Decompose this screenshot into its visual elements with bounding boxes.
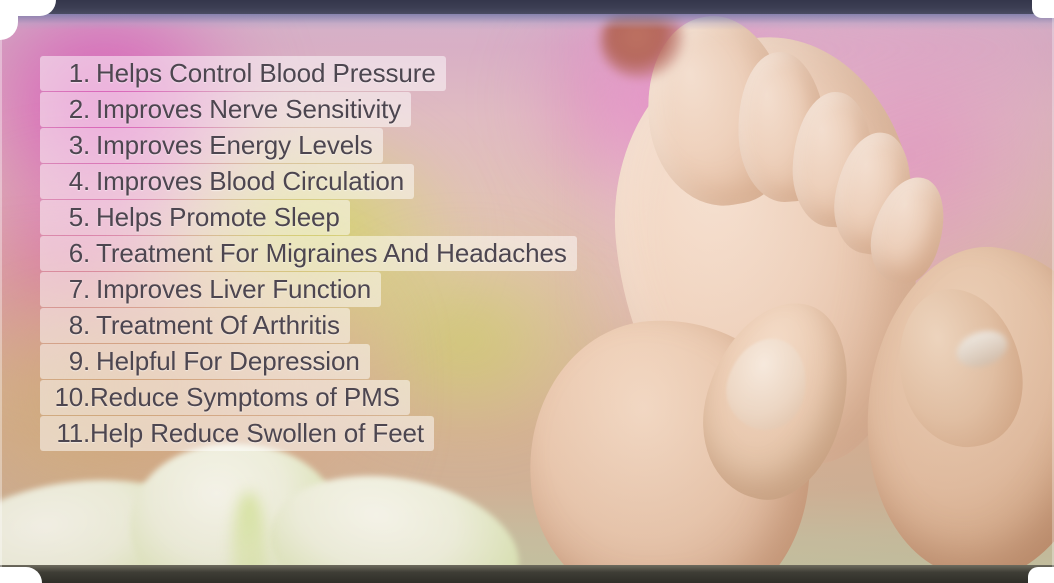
list-item-label: Improves Nerve Sensitivity [90, 92, 401, 127]
list-item: 3. Improves Energy Levels [40, 128, 383, 163]
slide-canvas: 1. Helps Control Blood Pressure 2. Impro… [0, 0, 1054, 583]
list-item: 6. Treatment For Migraines And Headaches [40, 236, 577, 271]
bottom-bar [0, 565, 1054, 583]
list-item-number: 1. [46, 56, 90, 91]
corner-top-right [1032, 0, 1054, 18]
list-item-number: 3. [46, 128, 90, 163]
list-item: 10. Reduce Symptoms of PMS [40, 380, 410, 415]
list-item-label: Help Reduce Swollen of Feet [90, 416, 424, 451]
list-item-label: Improves Energy Levels [90, 128, 373, 163]
list-item-number: 5. [46, 200, 90, 235]
benefits-list: 1. Helps Control Blood Pressure 2. Impro… [40, 52, 648, 458]
list-item: 1. Helps Control Blood Pressure [40, 56, 446, 91]
list-item: 2. Improves Nerve Sensitivity [40, 92, 411, 127]
list-item: 7. Improves Liver Function [40, 272, 381, 307]
list-item-label: Improves Blood Circulation [90, 164, 404, 199]
list-item-number: 2. [46, 92, 90, 127]
top-bar-fade [0, 14, 1054, 30]
list-item: 11. Help Reduce Swollen of Feet [40, 416, 434, 451]
list-item-label: Helps Control Blood Pressure [90, 56, 436, 91]
list-item-label: Improves Liver Function [90, 272, 371, 307]
corner-bottom-left [0, 567, 42, 583]
list-item-number: 8. [46, 308, 90, 343]
list-item-number: 7. [46, 272, 90, 307]
edge-left [0, 0, 2, 583]
list-item: 5. Helps Promote Sleep [40, 200, 350, 235]
list-item-label: Treatment For Migraines And Headaches [90, 236, 567, 271]
list-item-label: Treatment Of Arthritis [90, 308, 340, 343]
list-item-label: Helpful For Depression [90, 344, 360, 379]
list-item-number: 4. [46, 164, 90, 199]
list-item-number: 10. [46, 380, 90, 415]
list-item: 8. Treatment Of Arthritis [40, 308, 350, 343]
foot-massage-subject [600, 0, 1054, 583]
list-item-number: 11. [46, 416, 90, 451]
list-item-number: 6. [46, 236, 90, 271]
list-item: 9. Helpful For Depression [40, 344, 370, 379]
top-bar [0, 0, 1054, 14]
corner-bottom-right [1028, 567, 1054, 583]
list-item: 4. Improves Blood Circulation [40, 164, 414, 199]
list-item-label: Reduce Symptoms of PMS [90, 380, 400, 415]
list-item-label: Helps Promote Sleep [90, 200, 340, 235]
list-item-number: 9. [46, 344, 90, 379]
